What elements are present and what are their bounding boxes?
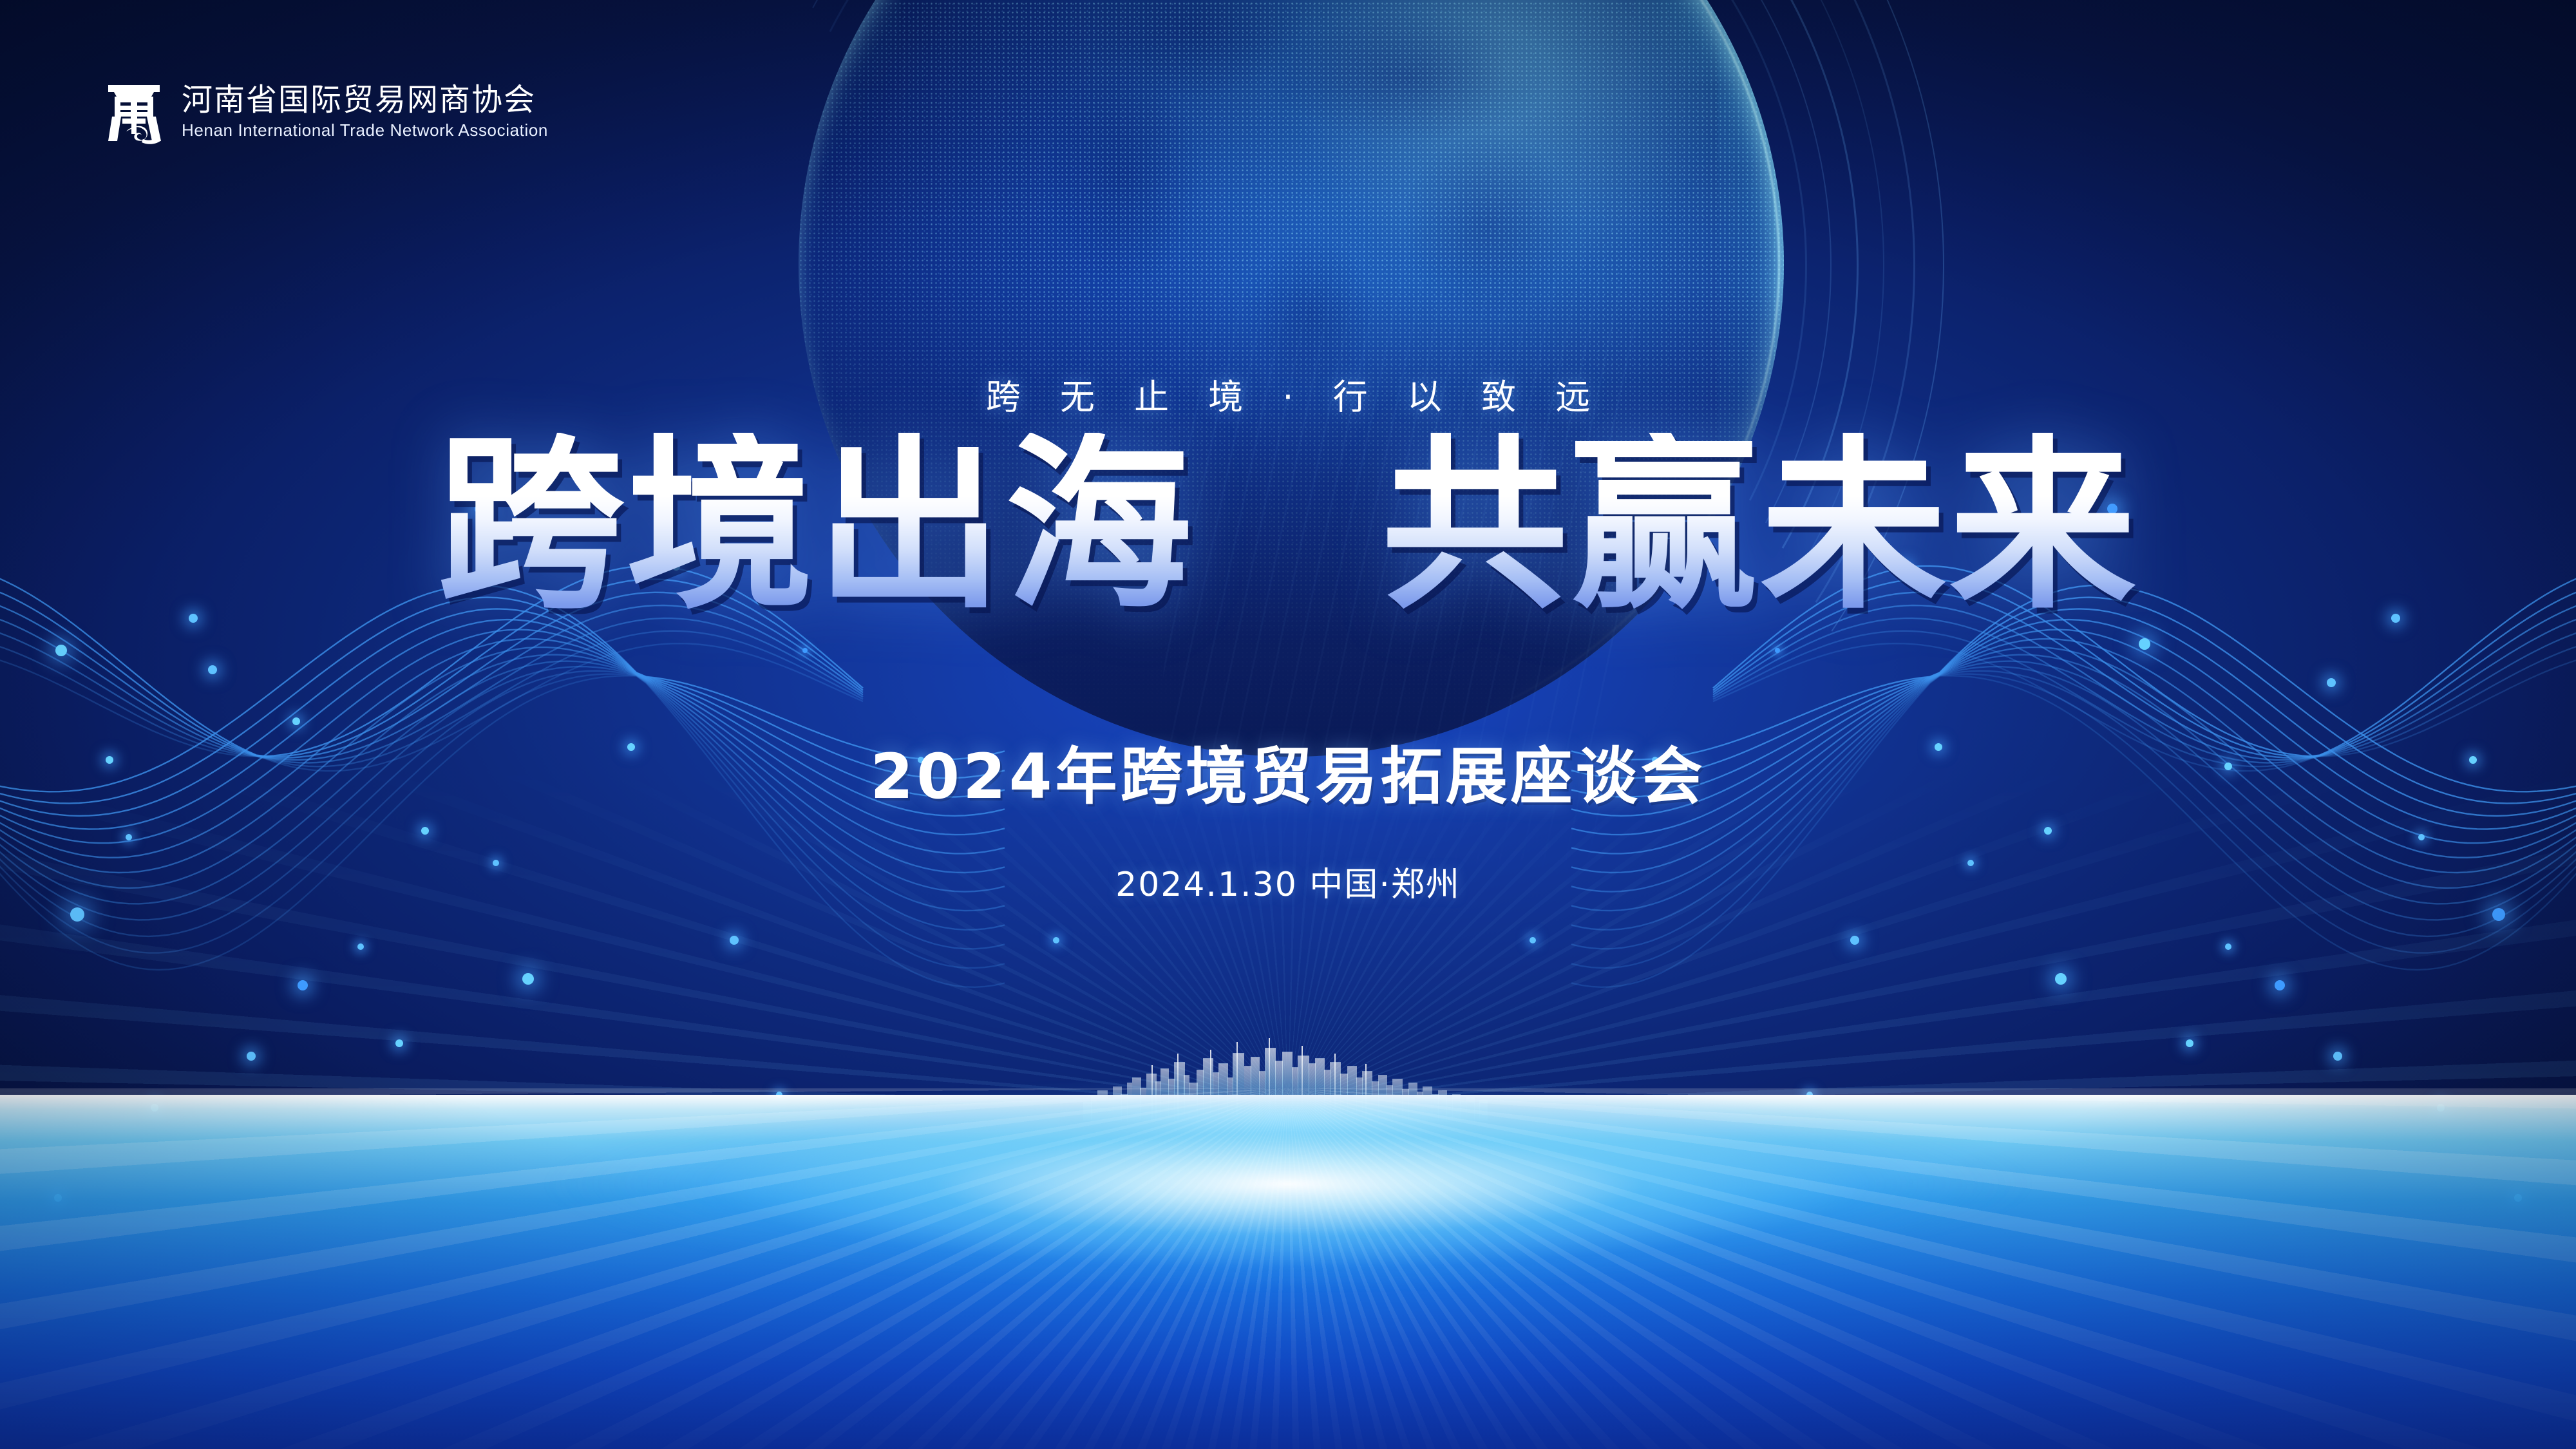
hero-dateline: 2024.1.30 中国·郑州 (0, 868, 2576, 902)
hero-title-part2: 共赢未来 (1381, 433, 2139, 620)
brand-name-cn: 河南省国际贸易网商协会 (182, 84, 548, 116)
hero-subtitle: 2024年跨境贸易拓展座谈会 (0, 746, 2576, 808)
brand-lockup: 河南省国际贸易网商协会 Henan International Trade Ne… (103, 76, 548, 148)
hero-title: 跨境出海 共赢未来 (0, 433, 2576, 620)
horizon-glow (354, 1043, 2222, 1314)
brand-name-en: Henan International Trade Network Associ… (182, 120, 548, 140)
poster-canvas: 河南省国际贸易网商协会 Henan International Trade Ne… (0, 0, 2576, 1449)
hero-tagline: 跨 无 止 境 · 行 以 致 远 (0, 368, 2576, 419)
hero-title-part1: 跨境出海 (437, 433, 1195, 620)
henan-seal-logo-icon (103, 76, 165, 148)
